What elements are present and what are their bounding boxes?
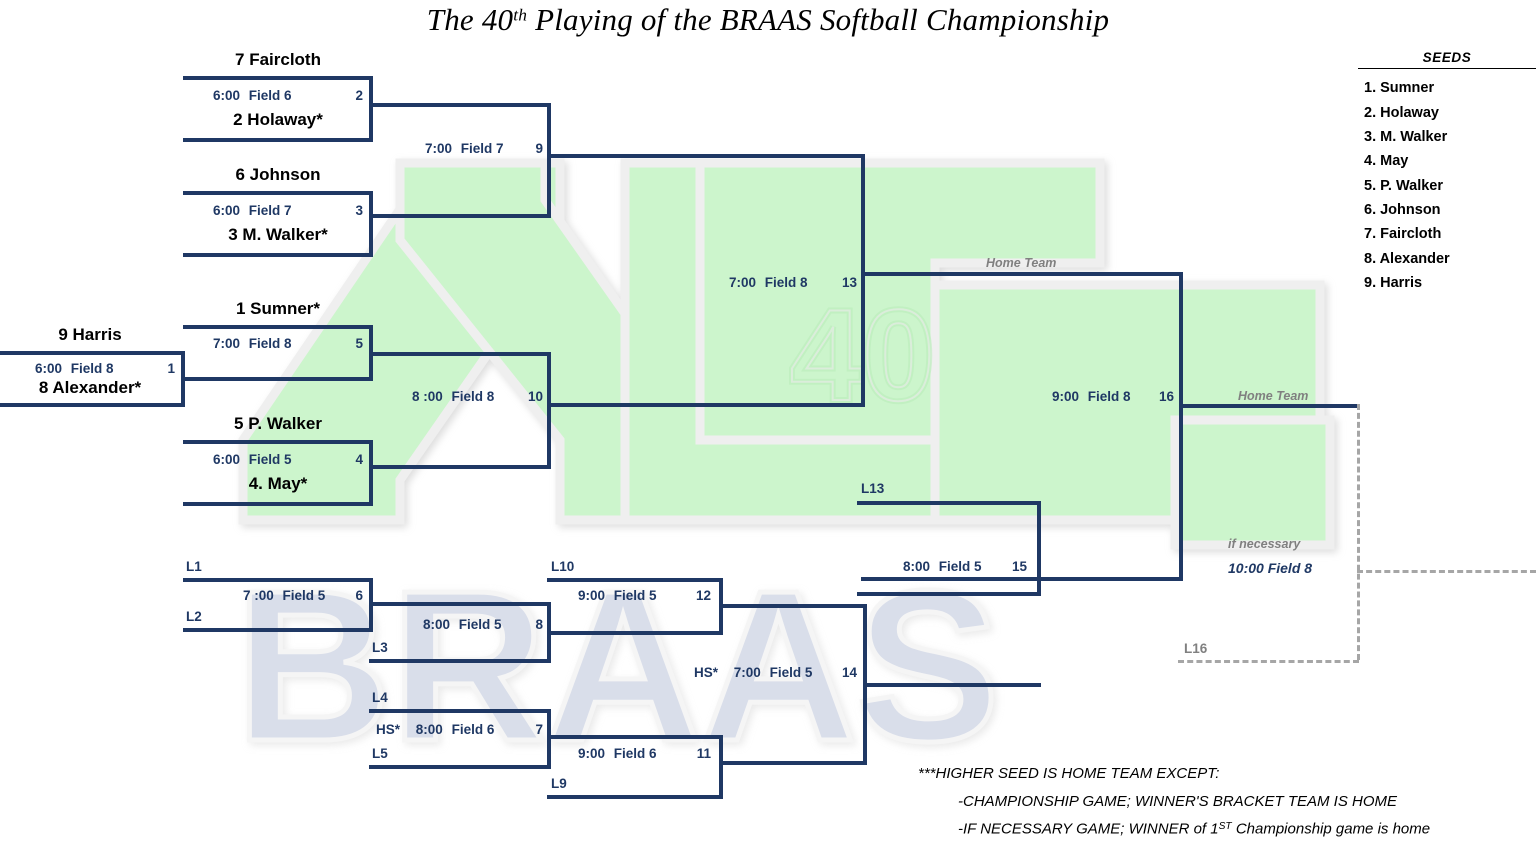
game-10-time: 8 :00: [412, 389, 443, 404]
game-14-number: 14: [842, 665, 857, 680]
g3-top-line: [183, 191, 373, 195]
game-3-time: 6:00: [213, 203, 240, 218]
game-2-number: 2: [355, 88, 363, 103]
game-1-field: Field 8: [71, 361, 114, 376]
game-7-info: HS* 8:00 Field 6 7: [376, 722, 543, 737]
g12-top-line: [547, 578, 723, 582]
team-p-walker: 5 P. Walker: [183, 414, 373, 434]
g9-bottom-line: [369, 214, 551, 218]
g13-top-line: [547, 154, 865, 158]
game-6-info: 7 :00 Field 5 6: [243, 588, 363, 603]
game-15-field: Field 5: [939, 559, 982, 574]
game-11-info: 9:00 Field 6 11: [578, 746, 711, 761]
if-necessary-output-line: [1357, 570, 1536, 573]
footnote-line-3-after: Championship game is home: [1232, 821, 1430, 838]
seeds-divider: [1358, 68, 1536, 69]
bracket-page: 40 40 BRAAS The 40th Playing of the BRAA…: [0, 0, 1536, 865]
game-4-time: 6:00: [213, 452, 240, 467]
game-10-number: 10: [528, 389, 543, 404]
game-10-info: 8 :00 Field 8 10: [412, 389, 543, 404]
seed-item-1: 1. Sumner: [1358, 76, 1536, 100]
g15-right-connector: [1037, 501, 1041, 596]
loser-slot-l4: L4: [372, 690, 388, 705]
loser-slot-l1: L1: [186, 559, 202, 574]
team-holaway: 2 Holaway*: [183, 110, 373, 130]
team-sumner: 1 Sumner*: [183, 299, 373, 319]
game-14-info: HS* 7:00 Field 5 14: [694, 665, 857, 680]
loser-slot-l5: L5: [372, 746, 388, 761]
seed-item-2: 2. Holaway: [1358, 100, 1536, 124]
game-7-field: Field 6: [452, 722, 495, 737]
game-13-field: Field 8: [765, 275, 808, 290]
game-11-time: 9:00: [578, 746, 605, 761]
footnote-line-3: -IF NECESSARY GAME; WINNER of 1ST Champi…: [918, 821, 1528, 838]
g4-bottom-line: [183, 502, 373, 506]
g14-bottom-line: [719, 761, 867, 765]
g1-bottom-line: [0, 403, 185, 407]
g10-bottom-line: [369, 465, 551, 469]
game-3-info: 6:00 Field 7 3: [213, 203, 363, 218]
g15-bottom-line: [857, 592, 1041, 596]
team-may: 4. May*: [183, 474, 373, 494]
g14-output-line: [863, 683, 1041, 687]
seeds-panel: SEEDS 1. Sumner 2. Holaway 3. M. Walker …: [1358, 50, 1536, 295]
game-5-field: Field 8: [249, 336, 292, 351]
loser-slot-l2: L2: [186, 609, 202, 624]
game-7-time: 8:00: [416, 722, 443, 737]
game-4-info: 6:00 Field 5 4: [213, 452, 363, 467]
seed-item-8: 8. Alexander: [1358, 247, 1536, 271]
seed-item-7: 7. Faircloth: [1358, 222, 1536, 246]
team-m-walker: 3 M. Walker*: [183, 225, 373, 245]
game-8-time: 8:00: [423, 617, 450, 632]
game-13-time: 7:00: [729, 275, 756, 290]
loser-slot-l3: L3: [372, 640, 388, 655]
g14-top-line: [719, 604, 867, 608]
g5-bottom-line: [183, 377, 373, 381]
team-alexander: 8 Alexander*: [0, 378, 185, 398]
game-12-info: 9:00 Field 5 12: [578, 588, 711, 603]
footnote-line-2: -CHAMPIONSHIP GAME; WINNER'S BRACKET TEA…: [918, 794, 1528, 811]
loser-slot-l10: L10: [551, 559, 574, 574]
if-necessary-game-info: 10:00 Field 8: [1228, 560, 1312, 576]
g7-bottom-line: [369, 765, 551, 769]
team-harris: 9 Harris: [0, 325, 185, 345]
game-16-field: Field 8: [1088, 389, 1131, 404]
game-8-info: 8:00 Field 5 8: [423, 617, 543, 632]
seed-item-5: 5. P. Walker: [1358, 174, 1536, 198]
if-necessary-l16-feed-line: [1178, 660, 1359, 663]
game-4-number: 4: [355, 452, 363, 467]
game-16-info: 9:00 Field 8 16: [1052, 389, 1174, 404]
game-5-info: 7:00 Field 8 5: [213, 336, 363, 351]
loser-slot-l9: L9: [551, 776, 567, 791]
g2-bottom-line: [183, 138, 373, 142]
game-1-time: 6:00: [35, 361, 62, 376]
team-faircloth: 7 Faircloth: [183, 50, 373, 70]
if-necessary-vertical-line: [1357, 404, 1360, 660]
game-16-time: 9:00: [1052, 389, 1079, 404]
title-ordinal-suffix: th: [513, 5, 527, 24]
loser-slot-l16: L16: [1184, 641, 1207, 656]
game-3-number: 3: [355, 203, 363, 218]
g3-bottom-line: [183, 253, 373, 257]
game-15-time: 8:00: [903, 559, 930, 574]
game-7-number: 7: [535, 722, 543, 737]
game-16-number: 16: [1159, 389, 1174, 404]
game-9-time: 7:00: [425, 141, 452, 156]
g9-top-line: [369, 103, 551, 107]
game-13-info: 7:00 Field 8 13: [729, 275, 857, 290]
g16-top-line: [861, 272, 1183, 276]
if-necessary-note: if necessary: [1228, 537, 1300, 551]
g13-right-connector: [861, 154, 865, 407]
game-15-number: 15: [1012, 559, 1027, 574]
game-15-info: 8:00 Field 5 15: [903, 559, 1027, 574]
game-5-number: 5: [355, 336, 363, 351]
game-9-number: 9: [535, 141, 543, 156]
g4-right-connector: [369, 440, 373, 506]
game-5-time: 7:00: [213, 336, 240, 351]
game-12-field: Field 5: [614, 588, 657, 603]
game-14-field: Field 5: [770, 665, 813, 680]
g2-right-connector: [369, 76, 373, 142]
g16-right-connector: [1179, 272, 1183, 581]
game-11-number: 11: [697, 746, 711, 761]
home-team-note-lower: Home Team: [1238, 389, 1308, 403]
game-8-number: 8: [535, 617, 543, 632]
g2-top-line: [183, 76, 373, 80]
game-10-field: Field 8: [452, 389, 495, 404]
game-2-info: 6:00 Field 6 2: [213, 88, 363, 103]
l13-feed-line: [857, 501, 1041, 505]
game-6-field: Field 5: [283, 588, 326, 603]
g8-top-line: [369, 602, 551, 606]
g15-output-line: [1037, 577, 1181, 581]
game-8-field: Field 5: [459, 617, 502, 632]
g4-top-line: [183, 440, 373, 444]
game-11-field: Field 6: [614, 746, 657, 761]
seed-item-4: 4. May: [1358, 149, 1536, 173]
g3-right-connector: [369, 191, 373, 257]
title-suffix: Playing of the BRAAS Softball Championsh…: [527, 2, 1109, 37]
seed-item-6: 6. Johnson: [1358, 198, 1536, 222]
game-4-field: Field 5: [249, 452, 292, 467]
game-12-time: 9:00: [578, 588, 605, 603]
g10-right-connector: [547, 352, 551, 469]
game-14-time: 7:00: [734, 665, 761, 680]
g8-bottom-line: [369, 659, 551, 663]
game-9-field: Field 7: [461, 141, 504, 156]
game-9-info: 7:00 Field 7 9: [425, 141, 543, 156]
game-7-higher-seed-marker: HS*: [376, 722, 400, 737]
game-12-number: 12: [696, 588, 711, 603]
loser-slot-l13: L13: [861, 481, 884, 496]
footnotes-block: ***HIGHER SEED IS HOME TEAM EXCEPT: -CHA…: [918, 766, 1528, 849]
game-14-higher-seed-marker: HS*: [694, 665, 718, 680]
game-6-time: 7 :00: [243, 588, 274, 603]
game-13-number: 13: [842, 275, 857, 290]
g7-top-line: [369, 709, 551, 713]
g6-top-line: [183, 578, 373, 582]
g10-top-line: [369, 352, 551, 356]
seed-item-3: 3. M. Walker: [1358, 125, 1536, 149]
game-6-number: 6: [355, 588, 363, 603]
page-title: The 40th Playing of the BRAAS Softball C…: [0, 2, 1536, 38]
g6-bottom-line: [183, 628, 373, 632]
g7-right-connector: [547, 709, 551, 769]
footnote-line-3-ordinal: ST: [1219, 821, 1232, 832]
game-2-field: Field 6: [249, 88, 292, 103]
title-prefix: The 40: [427, 2, 513, 37]
game-3-field: Field 7: [249, 203, 292, 218]
game-1-info: 6:00 Field 8 1: [35, 361, 175, 376]
g11-top-line: [547, 735, 723, 739]
g12-bottom-line: [547, 631, 723, 635]
seeds-heading: SEEDS: [1358, 50, 1536, 68]
g11-right-connector: [719, 735, 723, 799]
footnote-line-1: ***HIGHER SEED IS HOME TEAM EXCEPT:: [918, 766, 1528, 783]
footnote-line-3-before: -IF NECESSARY GAME; WINNER of 1: [958, 821, 1219, 838]
g1-top-line: [0, 351, 185, 355]
home-team-note-upper: Home Team: [986, 256, 1056, 270]
g13-bottom-line: [547, 403, 865, 407]
g5-top-line: [183, 325, 373, 329]
g9-right-connector: [547, 103, 551, 218]
game-1-number: 1: [167, 361, 175, 376]
seed-item-9: 9. Harris: [1358, 271, 1536, 295]
team-johnson: 6 Johnson: [183, 165, 373, 185]
g11-bottom-line: [547, 795, 723, 799]
game-2-time: 6:00: [213, 88, 240, 103]
champion-output-line: [1179, 404, 1358, 408]
